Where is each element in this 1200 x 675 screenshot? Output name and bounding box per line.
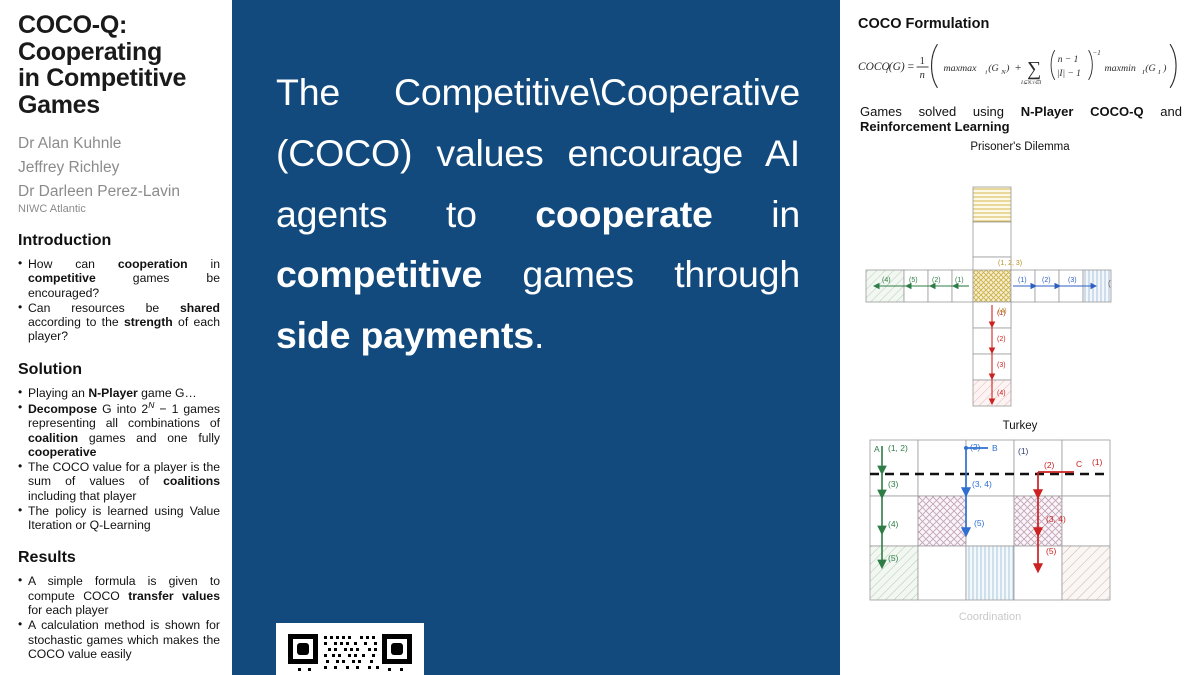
turkey-extra-label: (1) bbox=[1018, 446, 1029, 456]
formula-equals: = bbox=[908, 61, 914, 73]
page-title: COCO-Q: Cooperating in Competitive Games bbox=[18, 12, 220, 118]
formula-lhs-sub: i bbox=[886, 66, 888, 75]
figure-title: Turkey bbox=[856, 420, 1184, 432]
turkey-c-label-1: (2) bbox=[1044, 460, 1055, 470]
title-line-2: Cooperating bbox=[18, 39, 220, 66]
affiliation: NIWC Atlantic bbox=[18, 203, 220, 215]
turkey-c-label-2: (3, 4) bbox=[1046, 514, 1066, 524]
formula-binom-top: n − 1 bbox=[1058, 55, 1079, 65]
turkey-c-label-3: (5) bbox=[1046, 546, 1057, 556]
title-line-3: in Competitive bbox=[18, 65, 220, 92]
section-heading-solution: Solution bbox=[18, 361, 220, 379]
section-heading-coco-formulation: COCO Formulation bbox=[858, 16, 1184, 32]
title-line-4: Games bbox=[18, 92, 220, 119]
right-column: COCO Formulation COCO i (G) = 1 n maxmax… bbox=[840, 0, 1200, 675]
results-bullets: A simple formula is given to compute COC… bbox=[18, 574, 220, 661]
formula-binom-bottom: |I| − 1 bbox=[1057, 69, 1081, 79]
list-item: A calculation method is shown for stocha… bbox=[18, 618, 220, 661]
formula-frac-den: n bbox=[920, 70, 925, 81]
turkey-series-a-name: A bbox=[874, 444, 880, 454]
turkey-b-label-1: (2) bbox=[970, 442, 981, 452]
formula-plus: + bbox=[1015, 62, 1021, 74]
list-item: Playing an N-Player game G… bbox=[18, 386, 220, 400]
title-line-1: COCO-Q: bbox=[18, 12, 220, 39]
pd-left-label-1: (1) bbox=[955, 277, 964, 284]
qr-code-icon[interactable] bbox=[284, 630, 416, 674]
author-1: Dr Alan Kuhnle bbox=[18, 132, 220, 156]
list-item: How can cooperation in competitive games… bbox=[18, 257, 220, 300]
left-column: COCO-Q: Cooperating in Competitive Games… bbox=[0, 0, 232, 675]
pd-right-edge-marker: ( bbox=[1108, 279, 1111, 288]
author-2: Jeffrey Richley bbox=[18, 156, 220, 180]
turkey-series-b-name: B bbox=[992, 443, 998, 453]
pd-down-label-2: (2) bbox=[997, 336, 1006, 343]
formula-sum-sign: ∑ bbox=[1027, 58, 1041, 80]
pd-center-label: (1, 2, 3) bbox=[998, 260, 1022, 267]
formula-binom-exp: −1 bbox=[1093, 49, 1101, 57]
pd-right-label-3: (3) bbox=[1068, 277, 1077, 284]
list-item: A simple formula is given to compute COC… bbox=[18, 574, 220, 617]
turkey-a-label-3: (4) bbox=[888, 519, 899, 529]
formula-frac-num: 1 bbox=[920, 56, 925, 67]
turkey-a-label-1: (1, 2) bbox=[888, 443, 908, 453]
turkey-c-label-0: (1) bbox=[1092, 457, 1103, 467]
section-heading-results: Results bbox=[18, 549, 220, 567]
formula-term1-close: ) bbox=[1005, 63, 1009, 74]
figure-title: Prisoner's Dilemma bbox=[856, 141, 1184, 153]
center-highlight-panel: The Competitive\Cooperative (COCO) value… bbox=[232, 0, 840, 675]
figure-turkey: Turkey bbox=[856, 420, 1184, 629]
list-item: Decompose G into 2N − 1 games representi… bbox=[18, 401, 220, 459]
solution-bullets: Playing an N-Player game G… Decompose G … bbox=[18, 386, 220, 533]
pd-down-label-4: (4) bbox=[997, 390, 1006, 397]
formula-sum-limits: I⊊N:i∈I bbox=[1020, 80, 1042, 86]
formula-term2-arg: (G bbox=[1145, 63, 1155, 74]
pd-left-label-2: (2) bbox=[932, 277, 941, 284]
introduction-bullets: How can cooperation in competitive games… bbox=[18, 257, 220, 344]
coco-formula: COCO i (G) = 1 n maxmax i (G N ) + ∑ I⊊N… bbox=[856, 38, 1184, 94]
turkey-b-label-3: (5) bbox=[974, 518, 985, 528]
formula-term2-arg-sub: I bbox=[1157, 69, 1161, 76]
turkey-a-label-2: (3) bbox=[888, 479, 899, 489]
formula-lhs-arg: (G) bbox=[889, 61, 905, 73]
turkey-a-label-4: (5) bbox=[888, 553, 899, 563]
formula-term1-sub: i bbox=[985, 69, 987, 76]
formula-term1-arg: (G bbox=[988, 63, 998, 74]
games-solved-text: Games solved using N-Player COCO-Q and R… bbox=[860, 104, 1182, 135]
list-item: The policy is learned using Value Iterat… bbox=[18, 504, 220, 533]
formula-term1: maxmax bbox=[943, 63, 977, 74]
figure-title-coordination: Coordination bbox=[959, 611, 1021, 623]
list-item: The COCO value for a player is the sum o… bbox=[18, 460, 220, 503]
figure-prisoners-dilemma: Prisoner's Dilemma bbox=[856, 141, 1184, 420]
turkey-b-label-2: (3, 4) bbox=[972, 479, 992, 489]
pd-right-label-2: (2) bbox=[1042, 277, 1051, 284]
author-3: Dr Darleen Perez-Lavin bbox=[18, 180, 220, 204]
pd-below-center-label: (4) bbox=[998, 308, 1007, 315]
list-item: Can resources be shared according to the… bbox=[18, 301, 220, 344]
section-heading-introduction: Introduction bbox=[18, 232, 220, 250]
turkey-chart: A (1, 2) (3) (4) (5) (2) B (3, 4) bbox=[856, 434, 1184, 629]
pd-left-label-3: (5) bbox=[909, 277, 918, 284]
headline-text: The Competitive\Cooperative (COCO) value… bbox=[276, 62, 800, 366]
qr-code-card[interactable] bbox=[276, 623, 424, 675]
formula-term2: maxmin bbox=[1104, 63, 1135, 74]
pd-right-label-1: (1) bbox=[1018, 277, 1027, 284]
turkey-series-c-name: C bbox=[1076, 459, 1082, 469]
pd-down-label-3: (3) bbox=[997, 362, 1006, 369]
formula-term2-close: ) bbox=[1162, 63, 1166, 74]
prisoners-dilemma-chart: (1) (2) (5) (4) (1) (2) (3) bbox=[856, 155, 1184, 420]
poster-root: COCO-Q: Cooperating in Competitive Games… bbox=[0, 0, 1200, 675]
pd-left-label-4: (4) bbox=[882, 277, 891, 284]
